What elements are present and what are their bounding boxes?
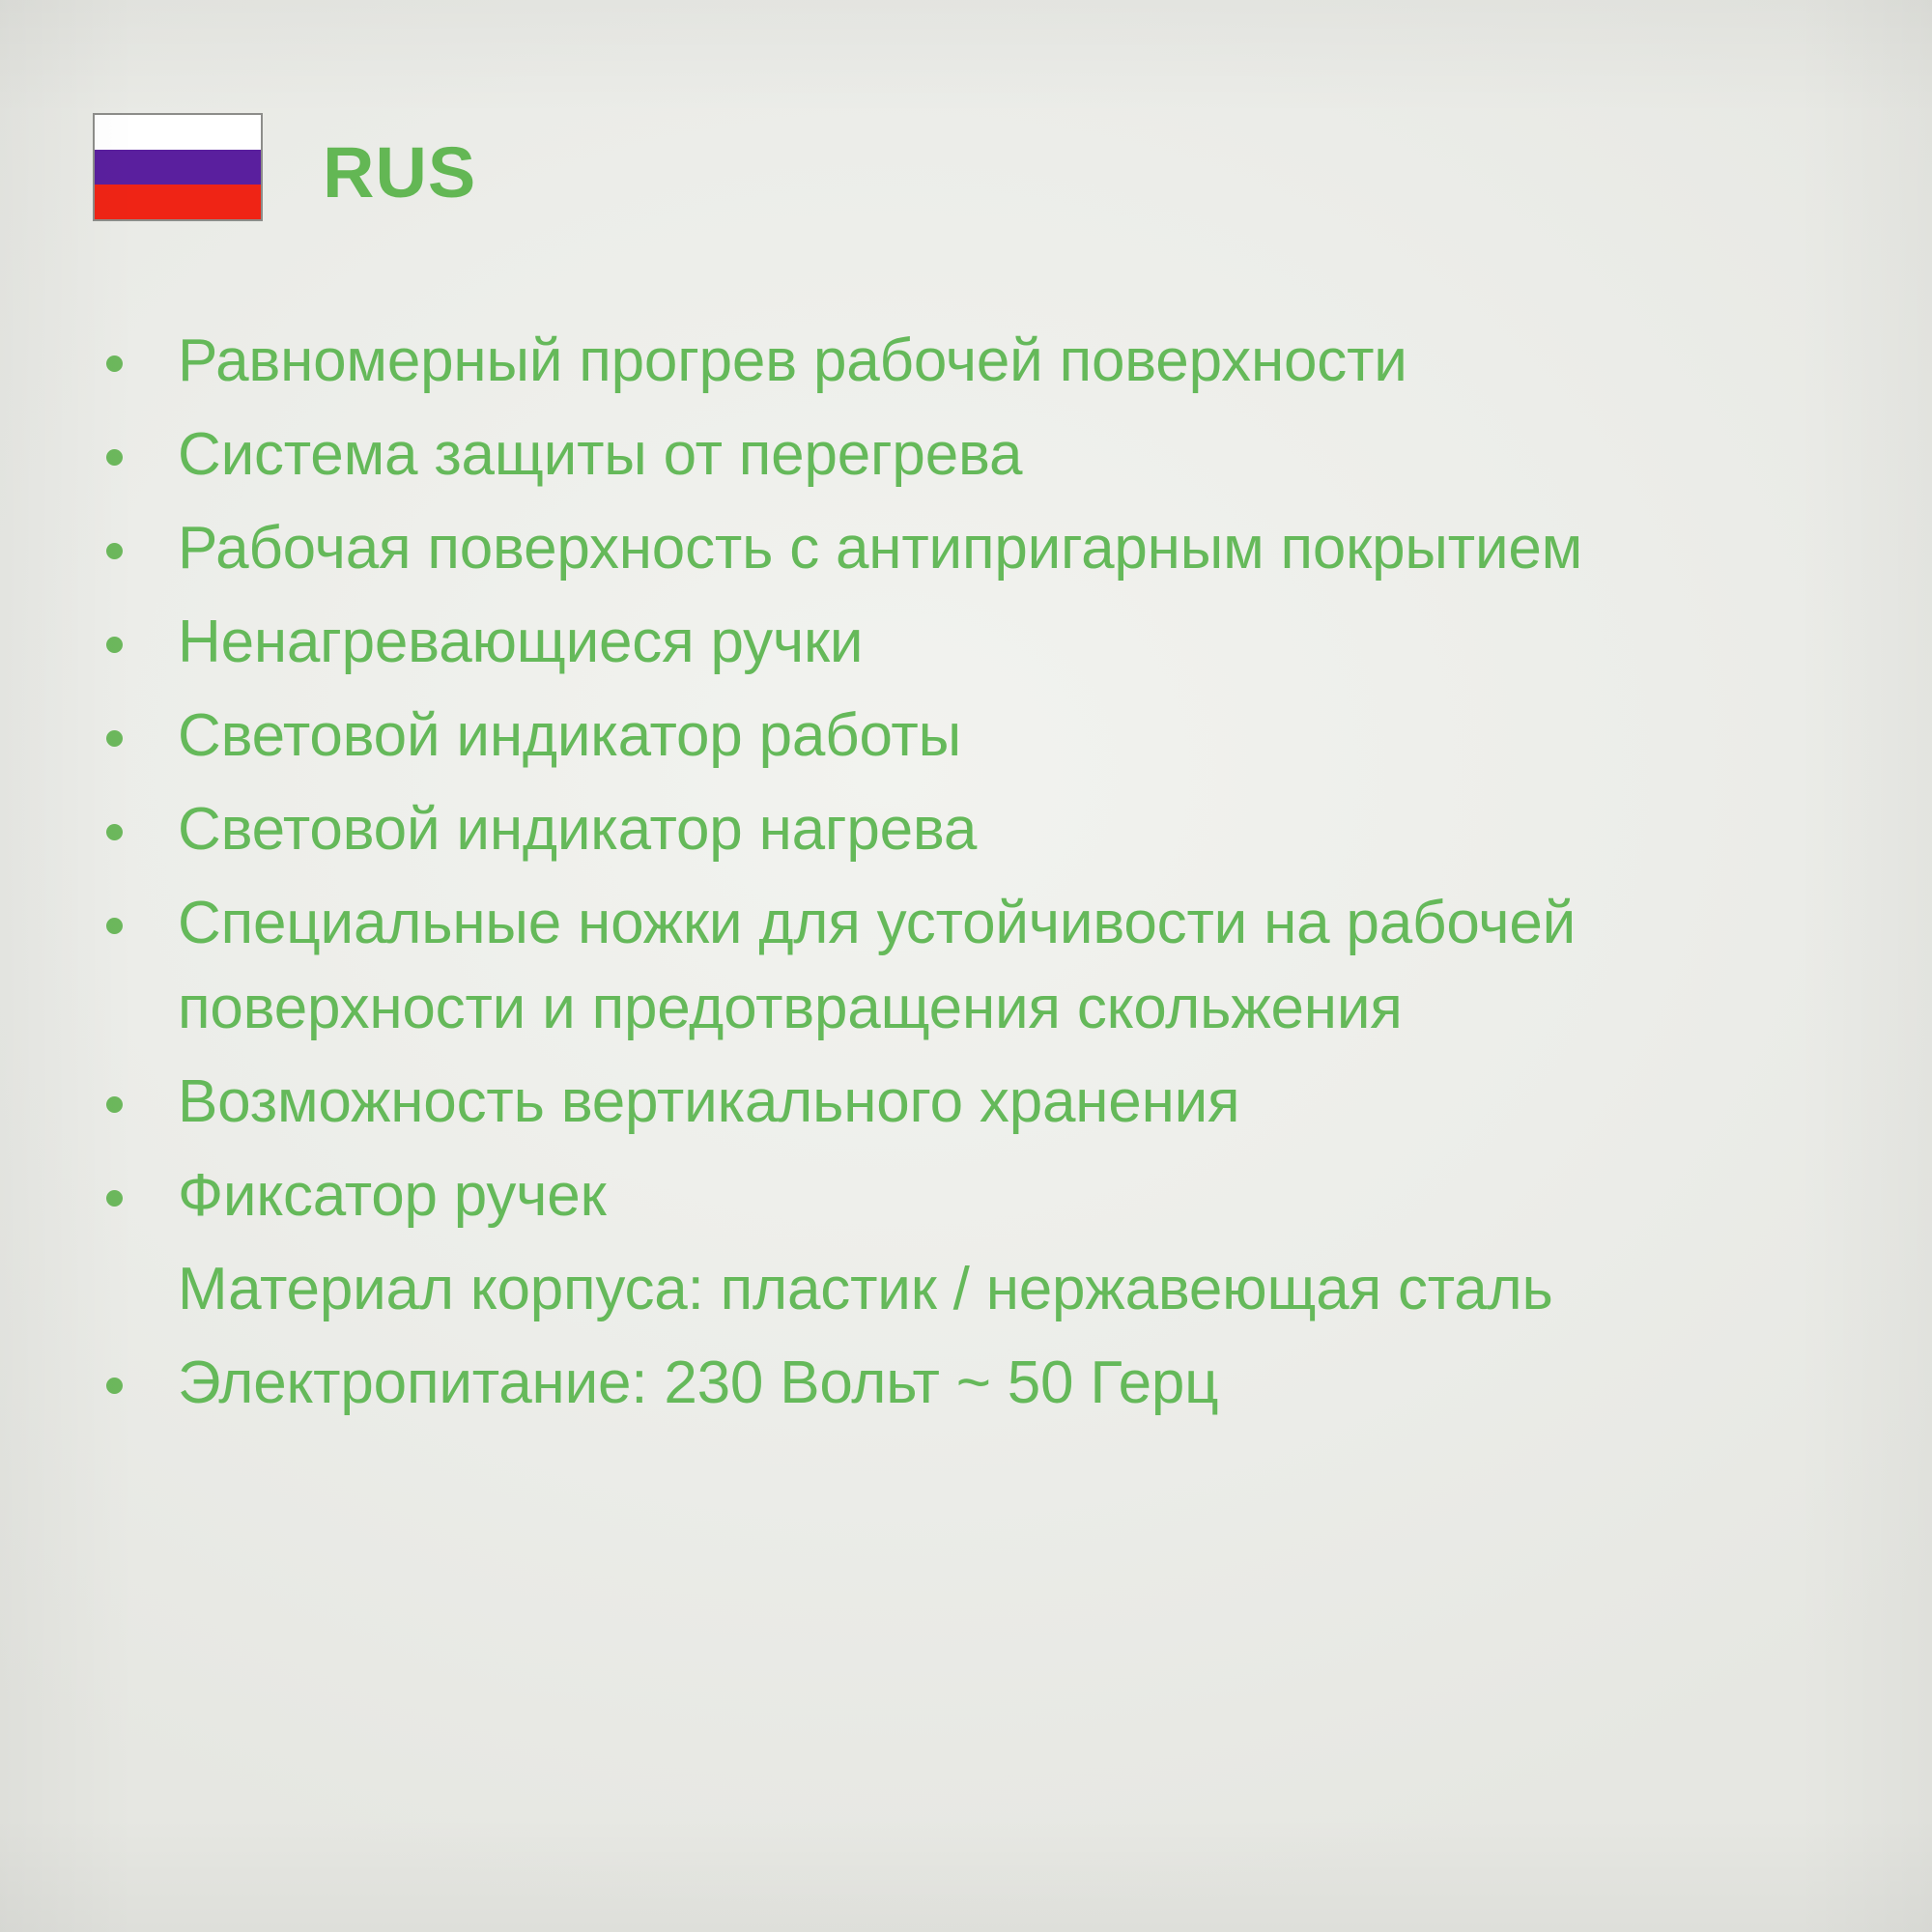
list-item: Материал корпуса: пластик / нержавеющая … xyxy=(93,1247,1832,1332)
list-item: Световой индикатор работы xyxy=(93,694,1832,779)
language-header: RUS xyxy=(93,126,476,209)
list-item-label: Специальные ножки для устойчивости на ра… xyxy=(178,881,1832,1051)
list-item: Рабочая поверхность с антипригарным покр… xyxy=(93,506,1832,591)
language-code-label: RUS xyxy=(323,137,476,209)
list-item-label: Рабочая поверхность с антипригарным покр… xyxy=(178,506,1832,591)
list-item: Система защиты от перегрева xyxy=(93,412,1832,497)
bullet-icon xyxy=(106,918,123,934)
list-item: Световой индикатор нагрева xyxy=(93,787,1832,872)
bullet-icon xyxy=(106,1096,123,1113)
list-item-label: Световой индикатор работы xyxy=(178,694,1832,779)
bullet-icon xyxy=(106,1378,123,1394)
bullet-icon xyxy=(106,730,123,747)
bullet-icon xyxy=(106,637,123,653)
bullet-icon xyxy=(106,543,123,559)
flag-stripe-red xyxy=(95,185,261,219)
bullet-icon xyxy=(106,355,123,372)
list-item-label: Фиксатор ручек xyxy=(178,1153,1832,1238)
list-item: Возможность вертикального хранения xyxy=(93,1060,1832,1145)
list-item: Ненагревающиеся ручки xyxy=(93,600,1832,685)
list-item: Фиксатор ручек xyxy=(93,1153,1832,1238)
list-item-label: Материал корпуса: пластик / нержавеющая … xyxy=(178,1247,1832,1332)
flag-stripe-violet xyxy=(95,150,261,185)
bullet-icon xyxy=(106,1190,123,1207)
feature-list: Равномерный прогрев рабочей поверхности … xyxy=(93,319,1832,1435)
list-item-label: Световой индикатор нагрева xyxy=(178,787,1832,872)
list-item-label: Ненагревающиеся ручки xyxy=(178,600,1832,685)
list-item-label: Электропитание: 230 Вольт ~ 50 Герц xyxy=(178,1341,1832,1426)
russia-flag-icon xyxy=(93,113,263,221)
bullet-icon xyxy=(106,449,123,466)
list-item-label: Система защиты от перегрева xyxy=(178,412,1832,497)
flag-stripe-white xyxy=(95,115,261,150)
list-item-label: Возможность вертикального хранения xyxy=(178,1060,1832,1145)
bullet-icon xyxy=(106,824,123,840)
list-item: Электропитание: 230 Вольт ~ 50 Герц xyxy=(93,1341,1832,1426)
package-label-panel: RUS Равномерный прогрев рабочей поверхно… xyxy=(0,0,1932,1932)
list-item: Равномерный прогрев рабочей поверхности xyxy=(93,319,1832,404)
list-item: Специальные ножки для устойчивости на ра… xyxy=(93,881,1832,1051)
list-item-label: Равномерный прогрев рабочей поверхности xyxy=(178,319,1832,404)
